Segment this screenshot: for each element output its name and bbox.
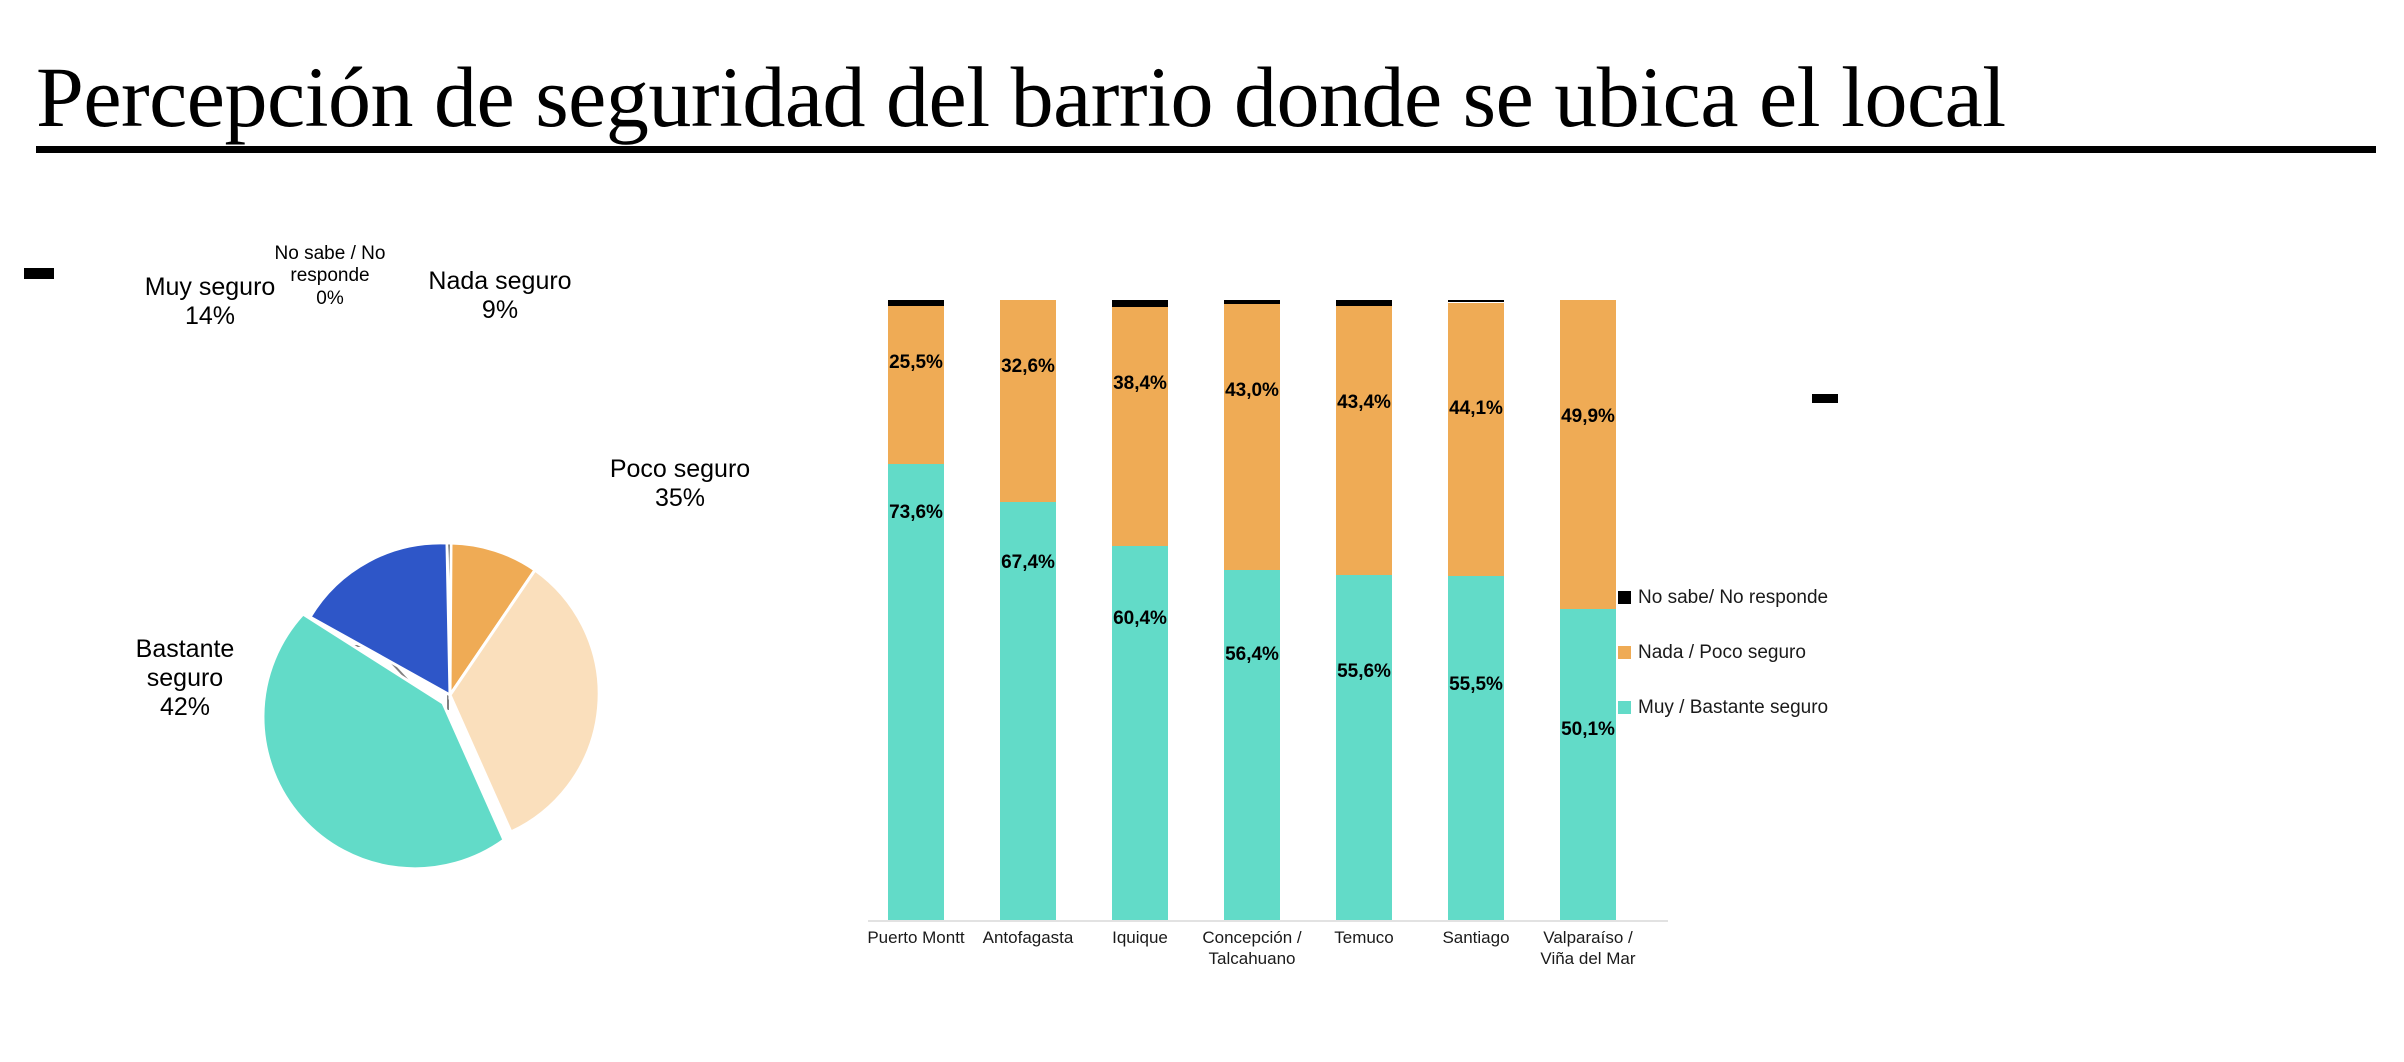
bar-segment-nada-poco-seguro — [1336, 306, 1392, 575]
bar-segment-nada-poco-seguro — [1000, 300, 1056, 502]
bar-column — [1000, 300, 1056, 920]
pie-label-poco-seguro: Poco seguro 35% — [575, 455, 785, 513]
bar-segment-no-sabe-no-responde — [1336, 300, 1392, 306]
legend-item-label: No sabe/ No responde — [1638, 587, 1828, 609]
legend-item[interactable]: No sabe/ No responde — [1618, 570, 1948, 625]
bar-value-label-muy-bastante-seguro: 55,5% — [1444, 674, 1508, 696]
bar-segment-nada-poco-seguro — [1560, 300, 1616, 609]
bar-value-label-nada-poco-seguro: 49,9% — [1556, 406, 1620, 428]
bar-segment-no-sabe-no-responde — [888, 300, 944, 306]
bar-column — [888, 300, 944, 920]
pie-label-nada-seguro: Nada seguro 9% — [400, 267, 600, 325]
bar-segment-no-sabe-no-responde — [1448, 300, 1504, 302]
legend-swatch-icon — [1618, 591, 1631, 604]
bar-segment-muy-bastante-seguro — [1448, 576, 1504, 920]
bar-category-label: Temuco — [1305, 928, 1423, 949]
bar-value-label-nada-poco-seguro: 25,5% — [884, 352, 948, 374]
page-title: Percepción de seguridad del barrio donde… — [36, 52, 2376, 153]
bar-value-label-nada-poco-seguro: 38,4% — [1108, 373, 1172, 395]
pie-label-bastante-seguro: Bastante seguro 42% — [85, 635, 285, 722]
pie-chart: Muy seguro 14% No sabe / No responde 0% … — [130, 355, 770, 915]
pie-label-no-sabe: No sabe / No responde 0% — [250, 243, 410, 310]
bar-segment-muy-bastante-seguro — [888, 464, 944, 920]
legend-swatch-icon — [1618, 701, 1631, 714]
bar-chart-axis-line — [868, 920, 1668, 922]
bar-value-label-nada-poco-seguro: 32,6% — [996, 356, 1060, 378]
bar-segment-no-sabe-no-responde — [1224, 300, 1280, 304]
bar-value-label-muy-bastante-seguro: 73,6% — [884, 502, 948, 524]
bar-segment-muy-bastante-seguro — [1112, 546, 1168, 920]
bar-segment-no-sabe-no-responde — [1112, 300, 1168, 307]
pie-slices — [263, 543, 599, 869]
legend-item-label: Nada / Poco seguro — [1638, 642, 1806, 664]
bar-plot-area: 73,6%25,5%67,4%32,6%60,4%38,4%56,4%43,0%… — [860, 300, 1680, 920]
legend-item[interactable]: Muy / Bastante seguro — [1618, 680, 1948, 735]
bar-value-label-nada-poco-seguro: 43,4% — [1332, 392, 1396, 414]
bar-segment-muy-bastante-seguro — [1224, 570, 1280, 920]
bar-category-label: Valparaíso / Viña del Mar — [1529, 928, 1647, 969]
bar-value-label-nada-poco-seguro: 44,1% — [1444, 398, 1508, 420]
bar-segment-nada-poco-seguro — [1112, 307, 1168, 545]
bar-category-label: Antofagasta — [969, 928, 1087, 949]
bar-value-label-muy-bastante-seguro: 50,1% — [1556, 719, 1620, 741]
bar-value-label-muy-bastante-seguro: 56,4% — [1220, 644, 1284, 666]
bar-segment-muy-bastante-seguro — [1336, 575, 1392, 920]
bar-segment-nada-poco-seguro — [888, 306, 944, 464]
bar-value-label-muy-bastante-seguro: 67,4% — [996, 552, 1060, 574]
bar-category-label: Iquique — [1081, 928, 1199, 949]
bar-category-label: Concepción / Talcahuano — [1193, 928, 1311, 969]
bar-value-label-nada-poco-seguro: 43,0% — [1220, 380, 1284, 402]
legend-swatch-icon — [1618, 646, 1631, 659]
legend-item[interactable]: Nada / Poco seguro — [1618, 625, 1948, 680]
bar-value-label-muy-bastante-seguro: 55,6% — [1332, 661, 1396, 683]
bar-segment-nada-poco-seguro — [1448, 303, 1504, 576]
bar-segment-nada-poco-seguro — [1224, 304, 1280, 571]
bar-segment-muy-bastante-seguro — [1560, 609, 1616, 920]
bar-value-label-muy-bastante-seguro: 60,4% — [1108, 608, 1172, 630]
bar-column — [1448, 300, 1504, 920]
bar-chart-legend: No sabe/ No respondeNada / Poco seguroMu… — [1618, 570, 1948, 735]
dash-mark-left — [24, 268, 54, 279]
bar-category-label: Puerto Montt — [857, 928, 975, 949]
bar-category-label: Santiago — [1417, 928, 1535, 949]
bar-column — [1560, 300, 1616, 920]
legend-item-label: Muy / Bastante seguro — [1638, 697, 1828, 719]
